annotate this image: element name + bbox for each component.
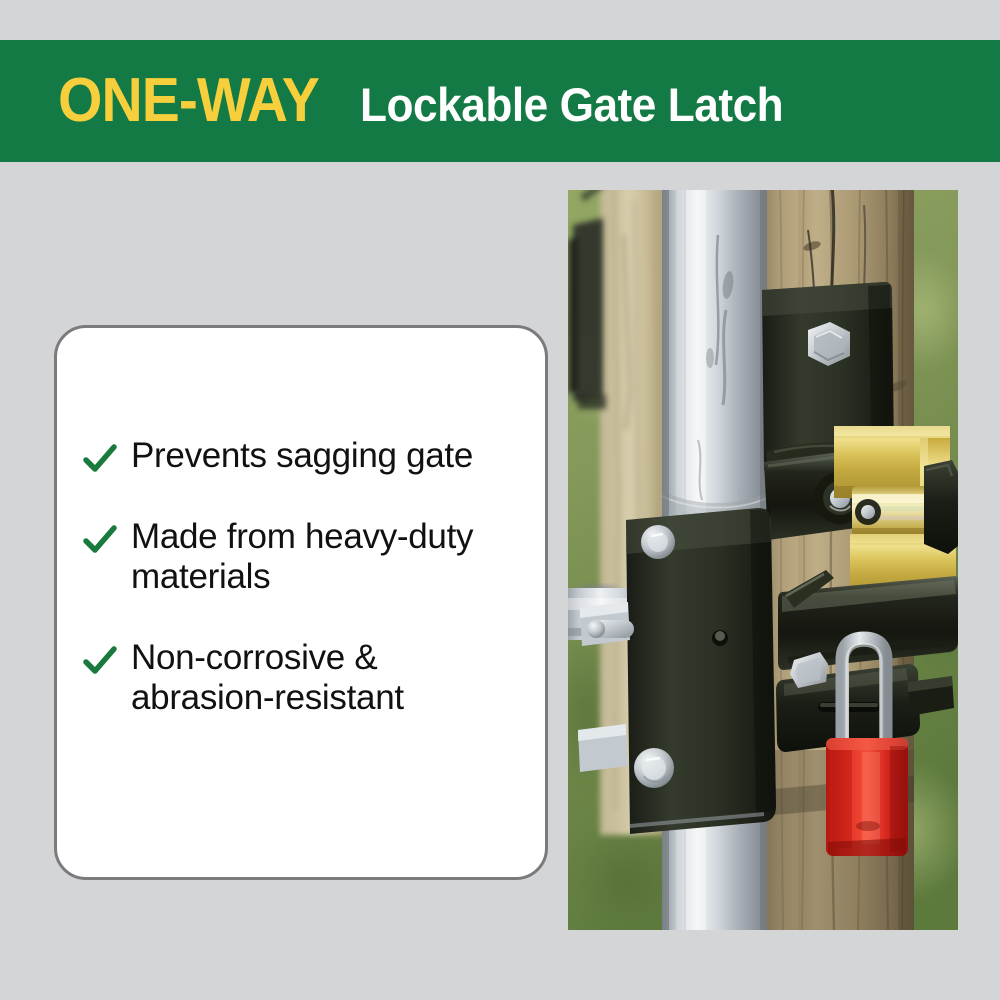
feature-item-label: Made from heavy-duty materials bbox=[131, 517, 521, 598]
check-icon bbox=[83, 442, 117, 476]
feature-card: Prevents sagging gate Made from heavy-du… bbox=[54, 325, 548, 880]
check-icon bbox=[83, 523, 117, 557]
page-title-strong: ONE-WAY bbox=[58, 70, 319, 132]
feature-item: Non-corrosive & abrasion-resistant bbox=[83, 638, 527, 719]
feature-item: Prevents sagging gate bbox=[83, 436, 527, 477]
infographic-page: ONE-WAY Lockable Gate Latch Prevents sag… bbox=[0, 0, 1000, 1000]
feature-item-label: Prevents sagging gate bbox=[131, 436, 473, 477]
gate-latch-product-photo bbox=[568, 190, 958, 930]
check-icon bbox=[83, 644, 117, 678]
latch-body-plate bbox=[626, 508, 776, 834]
feature-item-label: Non-corrosive & abrasion-resistant bbox=[131, 638, 521, 719]
latch-rivet bbox=[634, 748, 674, 788]
page-title-rest: Lockable Gate Latch bbox=[360, 81, 783, 128]
latch-side-tab bbox=[580, 602, 634, 646]
latch-rivet bbox=[641, 525, 675, 559]
feature-list: Prevents sagging gate Made from heavy-du… bbox=[83, 436, 527, 719]
latch-side-tab-lower bbox=[578, 724, 628, 772]
header-banner: ONE-WAY Lockable Gate Latch bbox=[0, 40, 1000, 162]
header-title-group: ONE-WAY Lockable Gate Latch bbox=[58, 70, 810, 132]
feature-item: Made from heavy-duty materials bbox=[83, 517, 527, 598]
